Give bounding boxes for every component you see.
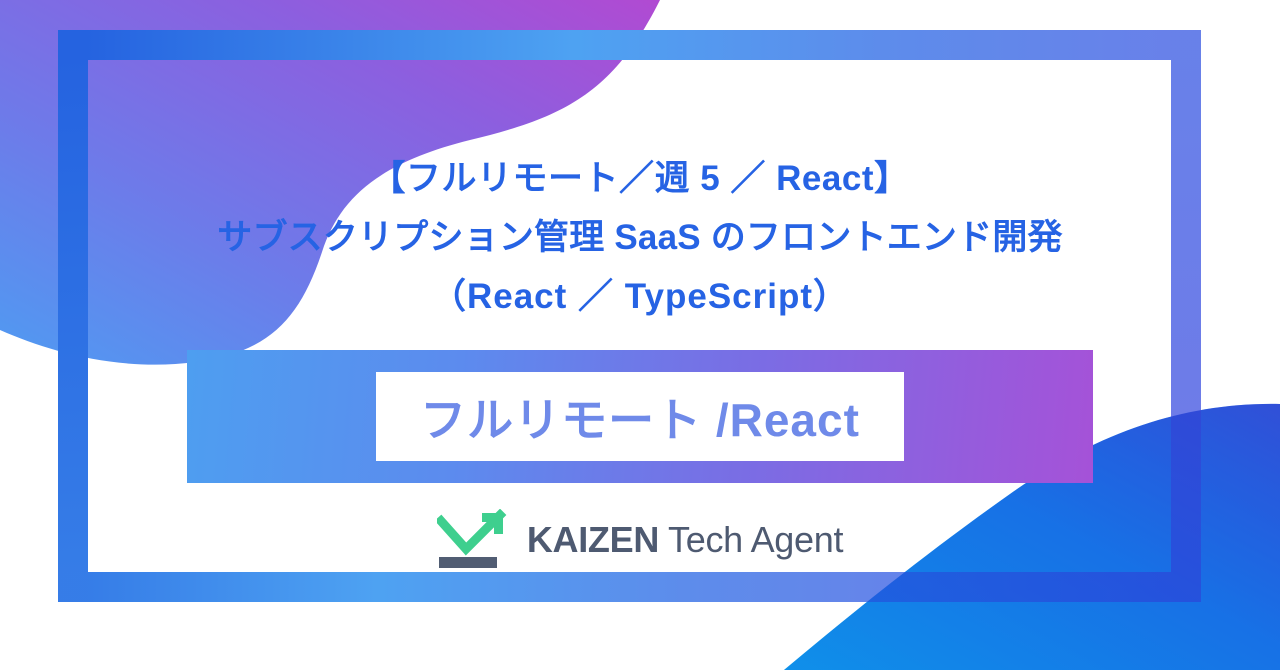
status-badge-bar: フルリモート /React	[187, 350, 1093, 483]
brand-logo-text: KAIZEN Tech Agent	[527, 522, 843, 558]
banner-content: 【フルリモート／週 5 ／ React】 サブスクリプション管理 SaaS のフ…	[0, 0, 1280, 670]
title-line-2: サブスクリプション管理 SaaS のフロントエンド開発	[110, 209, 1170, 268]
growth-arrow-icon	[437, 509, 513, 571]
page-title: 【フルリモート／週 5 ／ React】 サブスクリプション管理 SaaS のフ…	[110, 150, 1170, 326]
banner-canvas: 【フルリモート／週 5 ／ React】 サブスクリプション管理 SaaS のフ…	[0, 0, 1280, 670]
title-line-3: （React ／ TypeScript）	[110, 268, 1170, 327]
brand-logo: KAIZEN Tech Agent	[437, 509, 843, 571]
status-badge: フルリモート /React	[376, 372, 904, 461]
brand-subtitle: Tech Agent	[668, 522, 843, 558]
brand-name: KAIZEN	[527, 522, 659, 558]
title-line-1: 【フルリモート／週 5 ／ React】	[110, 150, 1170, 209]
